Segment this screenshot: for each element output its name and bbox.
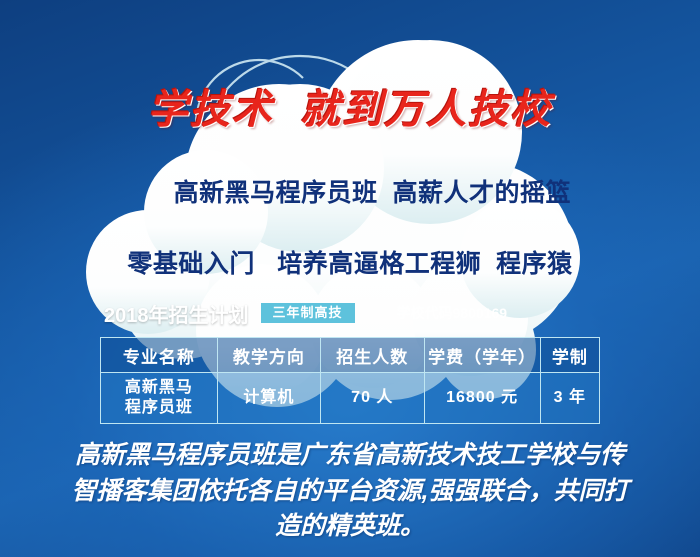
cell-quota: 70 人 — [321, 373, 424, 424]
cell-major: 高新黑马 程序员班 — [101, 373, 218, 424]
headline-main: 学技术 就到万人技校 — [0, 88, 700, 132]
footer-line-3: 造的精英班。 — [30, 509, 670, 545]
cell-length: 3 年 — [540, 373, 599, 424]
footer-line-1: 高新黑马程序员班是广东省高新技术技工学校与传 — [30, 438, 670, 474]
headline-sub-line2: 零基础入门 培养高逼格工程狮 程序猿 — [0, 247, 700, 283]
cell-fee: 16800 元 — [424, 373, 540, 424]
cell-direction: 计算机 — [217, 373, 320, 424]
plan-header: 2018年招生计划 三年制高技 学校代码9800169 — [104, 300, 624, 326]
column-header-fee: 学费（学年） — [424, 338, 540, 373]
plan-badge: 三年制高技 — [261, 303, 355, 323]
table-row: 高新黑马 程序员班 计算机 70 人 16800 元 3 年 — [101, 373, 600, 424]
footer-description: 高新黑马程序员班是广东省高新技术技工学校与传 智播客集团依托各自的平台资源,强强… — [30, 438, 670, 545]
column-header-length: 学制 — [540, 338, 599, 373]
cell-major-line1: 高新黑马 — [102, 378, 216, 398]
column-header-major: 专业名称 — [101, 338, 218, 373]
cell-major-line2: 程序员班 — [102, 398, 216, 418]
enrollment-table: 专业名称 教学方向 招生人数 学费（学年） 学制 高新黑马 程序员班 计算机 7… — [100, 337, 600, 424]
plan-title: 2018年招生计划 — [104, 299, 249, 328]
promo-poster: 学技术 就到万人技校 高新黑马程序员班 高薪人才的摇篮 零基础入门 培养高逼格工… — [0, 0, 700, 557]
column-header-quota: 招生人数 — [321, 338, 424, 373]
table-header-row: 专业名称 教学方向 招生人数 学费（学年） 学制 — [101, 338, 600, 373]
column-header-direction: 教学方向 — [217, 338, 320, 373]
footer-line-2: 智播客集团依托各自的平台资源,强强联合，共同打 — [30, 474, 670, 510]
school-code: 学校代码9800169 — [397, 303, 508, 323]
headline-sub-line1: 高新黑马程序员班 高薪人才的摇篮 — [174, 179, 571, 207]
